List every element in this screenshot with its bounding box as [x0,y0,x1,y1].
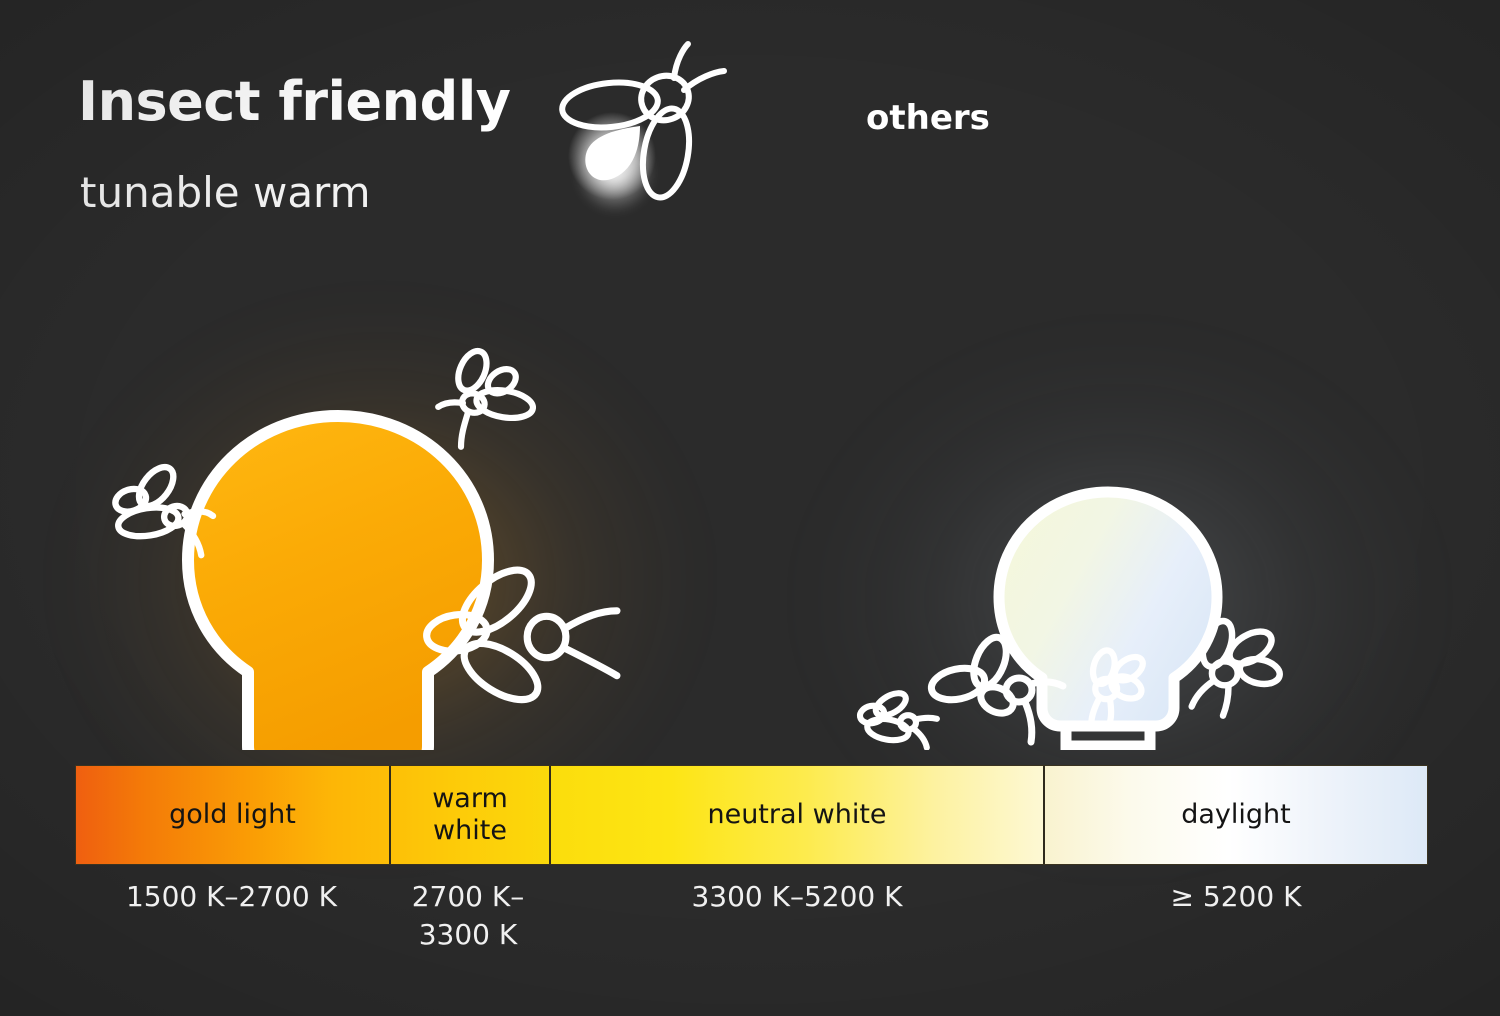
page-title: Insect friendly [78,70,511,133]
moth-cool-1 [858,689,937,748]
color-temperature-bar: gold light warm white neutral white dayl… [75,765,1428,865]
spectrum-band-label: daylight [1181,799,1291,831]
moth-warm-top [438,347,535,447]
firefly-icon [548,38,748,218]
scene-illustration [0,250,1500,750]
spectrum-band-daylight[interactable]: daylight [1043,766,1427,864]
temperature-label-warm-white: 2700 K– 3300 K [388,878,548,954]
temperature-label-neutral-white: 3300 K–5200 K [550,878,1044,916]
infographic-root: Insect friendly tunable warm others [0,0,1500,1016]
spectrum-band-warm-white[interactable]: warm white [389,766,549,864]
spectrum-band-label: neutral white [707,799,886,831]
spectrum-band-neutral-white[interactable]: neutral white [549,766,1043,864]
header: Insect friendly tunable warm others [0,0,1500,250]
warm-light-bulb [188,416,488,750]
others-label: others [866,98,990,138]
spectrum-band-label: gold light [169,799,296,831]
spectrum-band-label: warm white [432,783,508,847]
temperature-label-gold-light: 1500 K–2700 K [75,878,388,916]
page-subtitle: tunable warm [80,168,371,217]
spectrum-band-gold-light[interactable]: gold light [76,766,389,864]
temperature-label-daylight: ≥ 5200 K [1044,878,1428,916]
scene [0,250,1500,750]
